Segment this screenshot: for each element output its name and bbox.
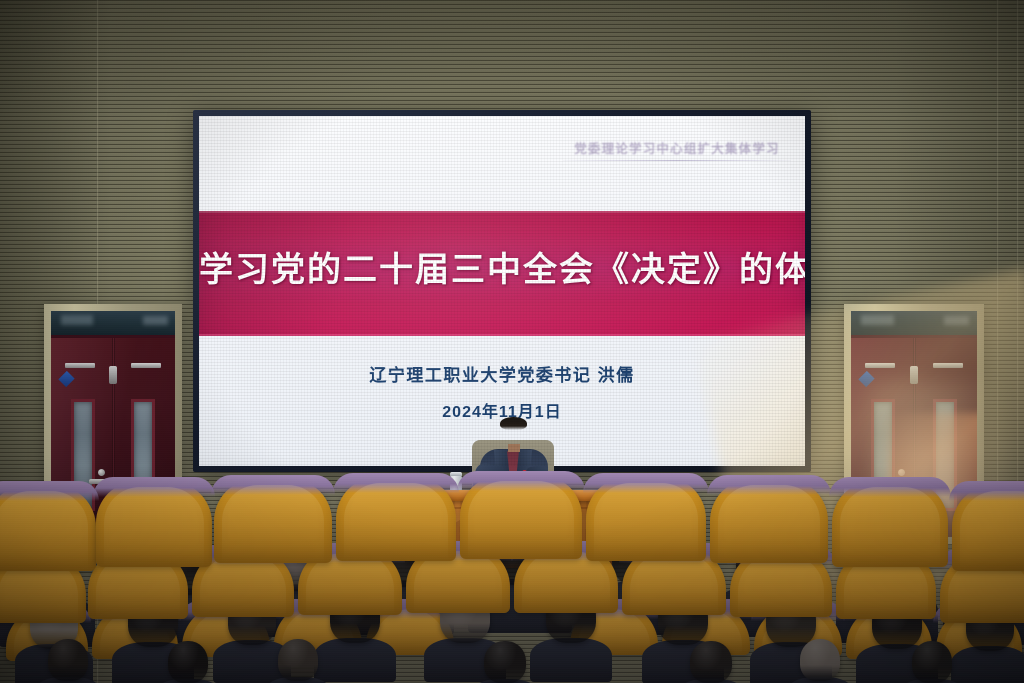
attendee-head: [690, 641, 732, 683]
attendee-head: [278, 639, 318, 681]
auditorium-seat[interactable]: [832, 481, 948, 567]
attendee-shoulders: [314, 638, 396, 682]
auditorium-seat[interactable]: [214, 479, 332, 563]
transom-highlight: [861, 315, 894, 325]
attendee-head: [912, 641, 952, 683]
transom-highlight: [61, 315, 93, 325]
slide-subtitle-block: 辽宁理工职业大学党委书记 洪儒 2024年11月1日: [199, 361, 805, 422]
band-top-edge: [199, 211, 805, 213]
auditorium-seat[interactable]: [952, 485, 1024, 571]
door-closer: [865, 363, 895, 368]
slide-header-rule: [563, 160, 791, 161]
door-knob[interactable]: [898, 469, 905, 476]
door-knob[interactable]: [98, 469, 105, 476]
wall-top-shadow: [0, 0, 1024, 120]
transom-highlight: [944, 316, 969, 325]
attendee-head: [800, 639, 840, 681]
door-closer: [65, 363, 95, 368]
door-lock[interactable]: [109, 366, 117, 384]
audience-seating: [0, 493, 1024, 683]
band-bottom-edge: [199, 334, 805, 336]
door-closer: [131, 363, 161, 368]
auditorium-seat[interactable]: [586, 477, 706, 561]
attendee-head: [484, 641, 526, 683]
conference-hall-photo: 党委理论学习中心组扩大集体学习 学习党的二十届三中全会《决定》的体会 辽宁理工职…: [0, 0, 1024, 683]
auditorium-seat[interactable]: [460, 475, 582, 559]
slide-header: 党委理论学习中心组扩大集体学习: [563, 138, 791, 161]
door-closer: [933, 363, 963, 368]
auditorium-seat[interactable]: [96, 481, 212, 567]
slide-title: 学习党的二十届三中全会《决定》的体会: [199, 242, 805, 291]
auditorium-seat[interactable]: [336, 477, 456, 561]
screen-panel: 党委理论学习中心组扩大集体学习 学习党的二十届三中全会《决定》的体会 辽宁理工职…: [199, 116, 805, 466]
door-transom-window: [851, 311, 977, 338]
auditorium-seat[interactable]: [710, 479, 828, 563]
attendee-head: [48, 639, 88, 681]
speaker-hair: [500, 417, 527, 430]
attendee-head: [168, 641, 208, 683]
attendee-shoulders: [530, 638, 612, 682]
slide-header-text: 党委理论学习中心组扩大集体学习: [563, 138, 791, 157]
door-transom-window: [51, 311, 175, 338]
slide-presenter: 辽宁理工职业大学党委书记 洪儒: [199, 361, 805, 386]
attendee-shoulders: [951, 646, 1024, 683]
auditorium-seat[interactable]: [0, 485, 96, 571]
door-lock[interactable]: [910, 366, 918, 384]
transom-highlight: [143, 316, 168, 325]
slide: 党委理论学习中心组扩大集体学习 学习党的二十届三中全会《决定》的体会 辽宁理工职…: [199, 116, 805, 466]
